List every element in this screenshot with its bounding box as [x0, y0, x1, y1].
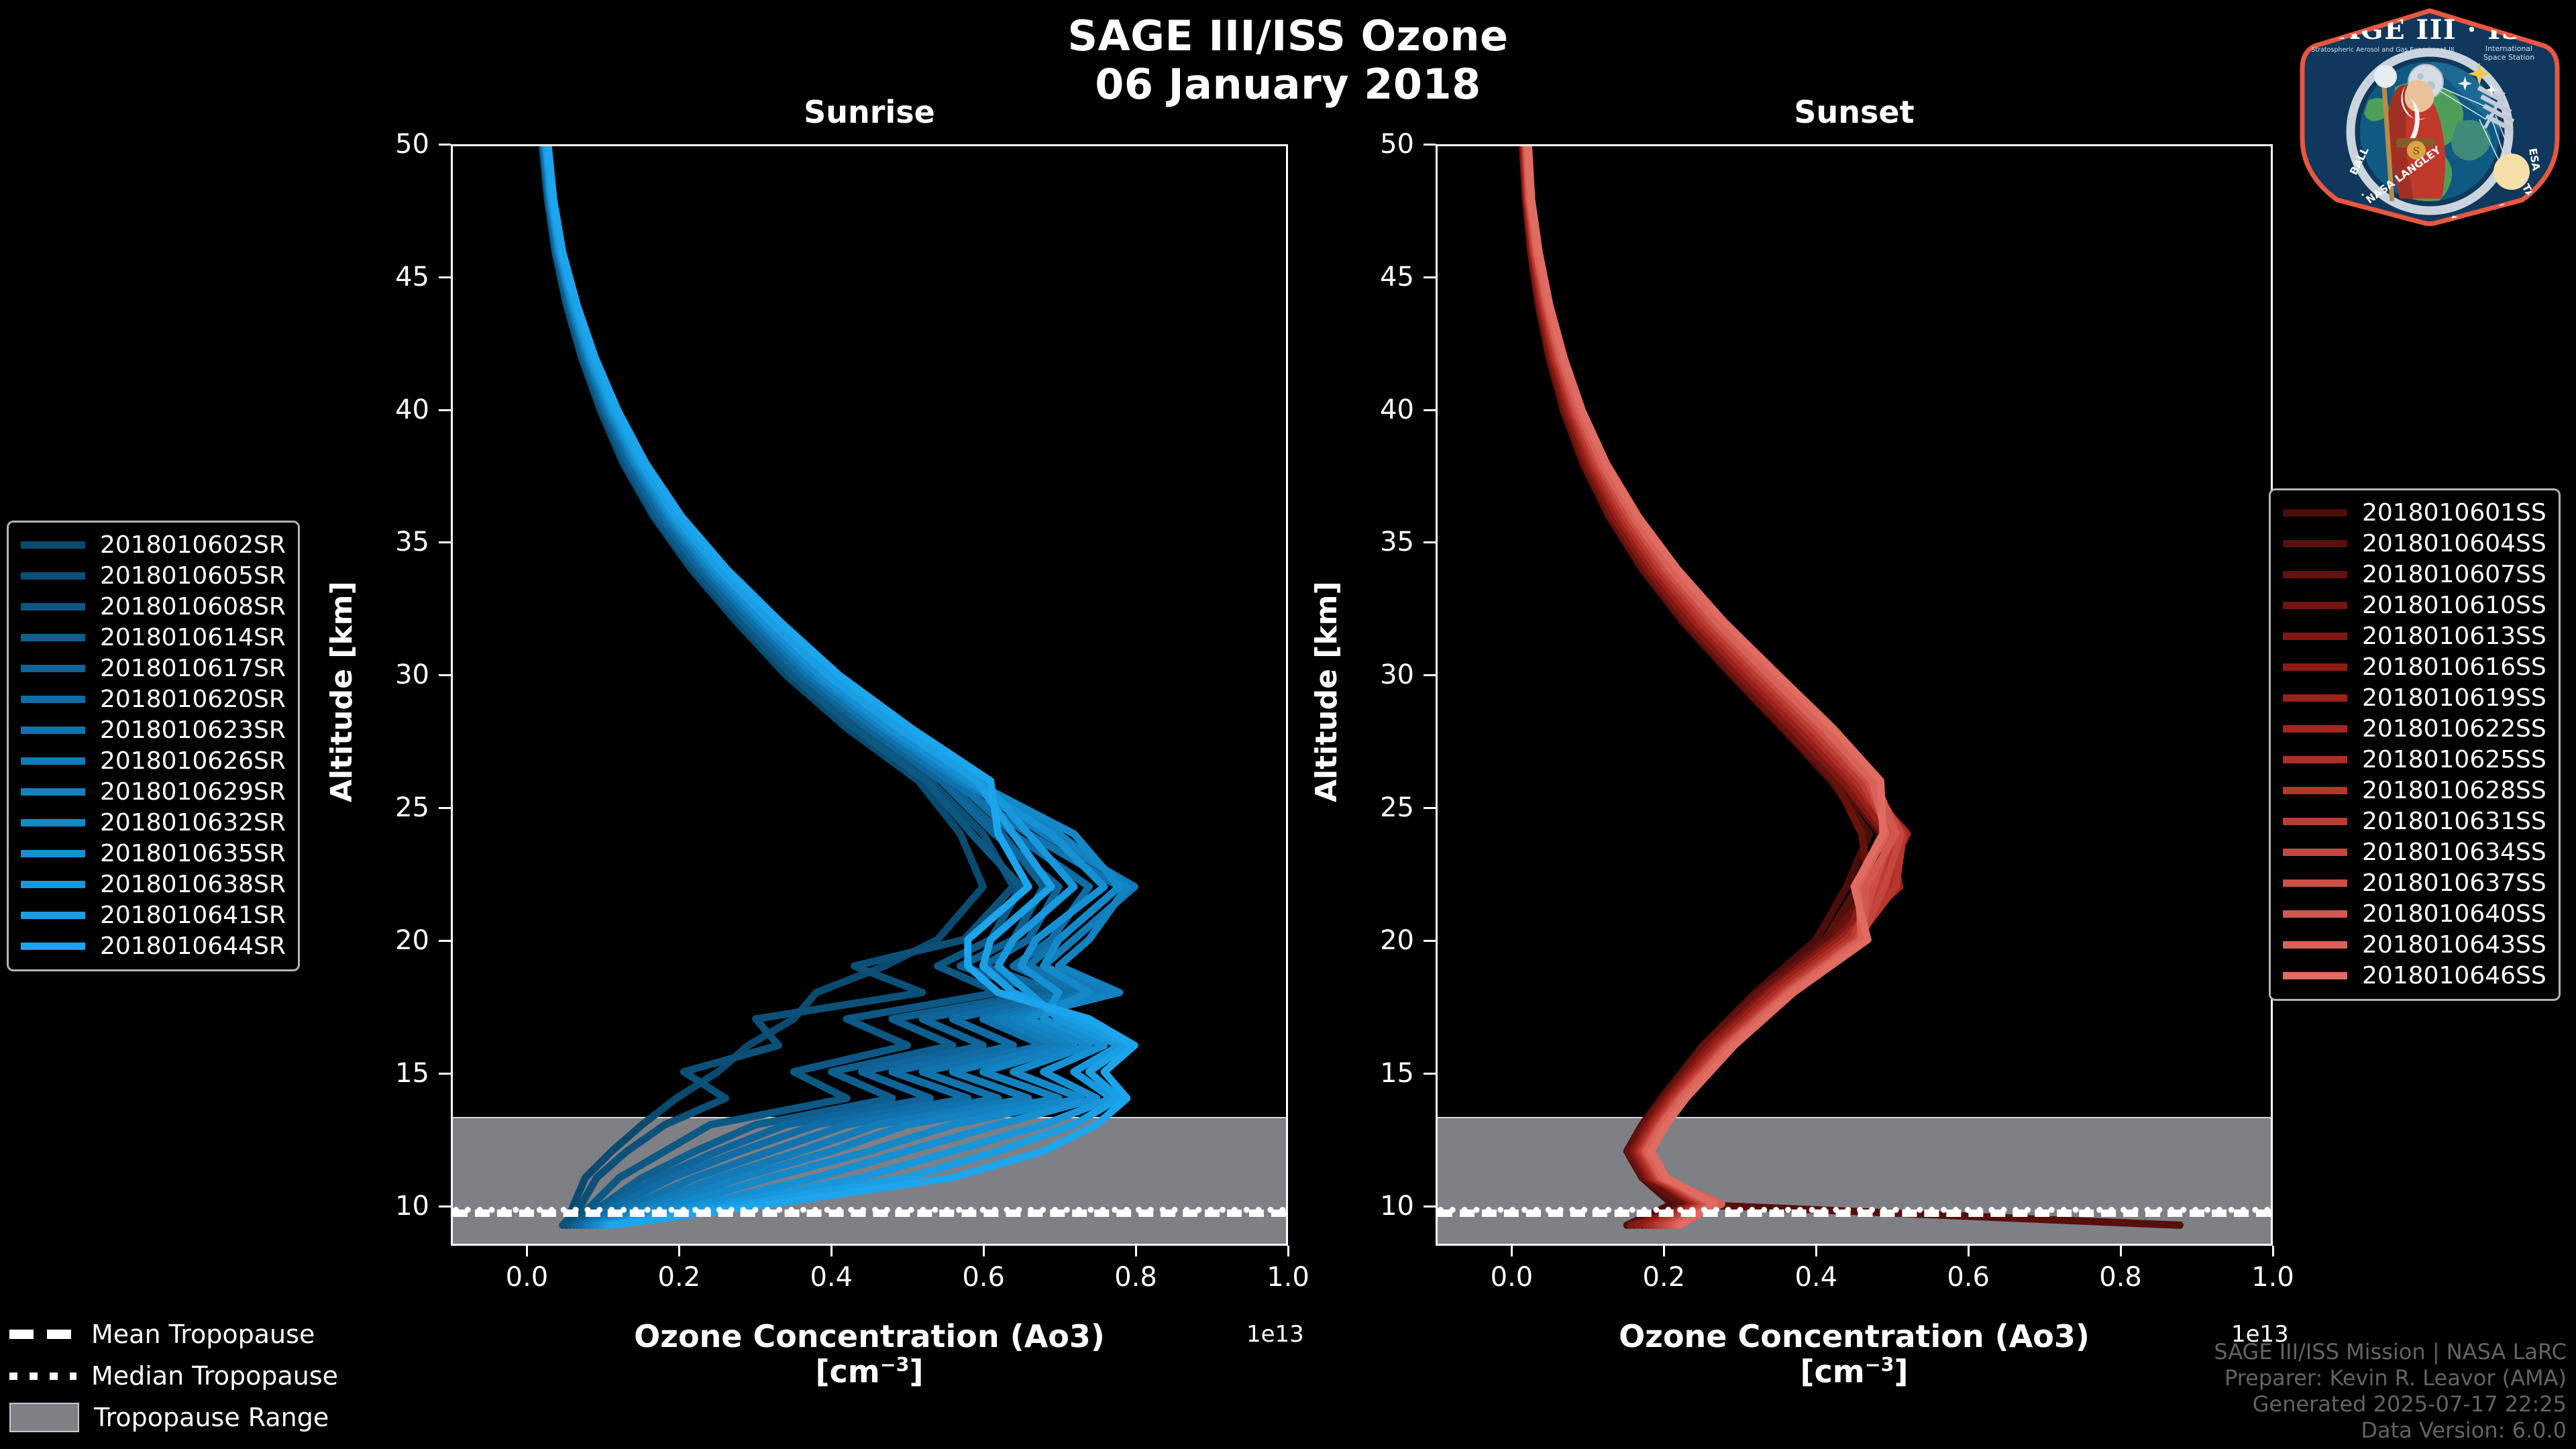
line-swatch-icon — [21, 943, 85, 950]
sunset-ytick — [1424, 807, 1436, 809]
sunset-legend-item: 2018010637SS — [2283, 867, 2546, 898]
sunrise-y-axis-label: Altitude [km] — [325, 581, 359, 802]
sunrise-legend-item: 2018010608SR — [21, 591, 286, 622]
sunset-legend-label: 2018010601SS — [2362, 499, 2546, 527]
sunrise-plot-area — [451, 144, 1288, 1246]
sunrise-legend-label: 2018010608SR — [100, 593, 286, 621]
filled-rect-icon — [9, 1403, 79, 1432]
sunset-legend-label: 2018010640SS — [2362, 900, 2546, 928]
legend-item-tropopause-range: Tropopause Range — [9, 1397, 338, 1438]
sunrise-xtick-label-0.6: 0.6 — [930, 1262, 1037, 1293]
sunrise-panel-title: Sunrise — [451, 94, 1288, 130]
sunset-legend-item: 2018010643SS — [2283, 929, 2546, 960]
sunset-legend-label: 2018010634SS — [2362, 839, 2546, 866]
sunrise-legend-item: 2018010614SR — [21, 622, 286, 653]
legend-label-tropopause-range: Tropopause Range — [94, 1403, 329, 1432]
sunrise-ytick — [439, 276, 451, 278]
sunrise-legend-label: 2018010641SR — [100, 902, 286, 929]
legend-item-mean-tropopause: Mean Tropopause — [9, 1313, 338, 1355]
line-swatch-icon — [21, 912, 85, 919]
sunset-xtick — [1968, 1246, 1970, 1256]
sunrise-xtick-label-0.4: 0.4 — [777, 1262, 885, 1293]
sunset-legend-item: 2018010631SS — [2283, 806, 2546, 837]
sunrise-legend-label: 2018010620SR — [100, 686, 286, 713]
sunrise-xtick-label-1.0: 1.0 — [1234, 1262, 1342, 1293]
sunrise-legend-item: 2018010644SR — [21, 930, 286, 961]
sunrise-ytick — [439, 144, 451, 146]
line-swatch-icon — [21, 696, 85, 703]
sunset-legend-item: 2018010604SS — [2283, 528, 2546, 559]
sunset-legend-label: 2018010622SS — [2362, 715, 2546, 743]
sunrise-ytick — [439, 674, 451, 676]
sunrise-legend: 2018010602SR2018010605SR2018010608SR2018… — [7, 521, 300, 971]
line-swatch-icon — [21, 819, 85, 826]
line-swatch-icon — [21, 572, 85, 580]
sage-iii-iss-mission-patch-logo: SAGE III · ISS Stratospheric Aerosol and… — [2294, 7, 2565, 228]
sunset-xtick — [2120, 1246, 2122, 1256]
legend-label-mean-tropopause: Mean Tropopause — [91, 1320, 315, 1349]
sunset-legend-item: 2018010625SS — [2283, 744, 2546, 775]
line-swatch-icon — [21, 727, 85, 734]
sunset-x-axis-label: Ozone Concentration (Ao3)[cm−3] — [1395, 1320, 2313, 1389]
sunrise-legend-label: 2018010629SR — [100, 778, 286, 806]
sunrise-ytick-label-35: 35 — [349, 527, 429, 557]
sunrise-xtick — [526, 1246, 528, 1256]
sunset-xtick — [1511, 1246, 1513, 1256]
sunset-xtick — [1815, 1246, 1817, 1256]
sunrise-ytick-label-50: 50 — [349, 129, 429, 160]
sunrise-legend-item: 2018010629SR — [21, 776, 286, 807]
line-swatch-icon — [2283, 725, 2347, 733]
sunset-ytick — [1424, 940, 1436, 942]
line-swatch-icon — [2283, 818, 2347, 825]
sunrise-legend-label: 2018010632SR — [100, 809, 286, 837]
legend-label-median-tropopause: Median Tropopause — [91, 1361, 338, 1391]
sunset-legend-label: 2018010604SS — [2362, 530, 2546, 557]
sunset-ytick — [1424, 1205, 1436, 1207]
line-swatch-icon — [21, 634, 85, 641]
sunrise-legend-item: 2018010605SR — [21, 560, 286, 591]
svg-text:International: International — [2485, 44, 2532, 53]
line-swatch-icon — [21, 850, 85, 857]
sunset-legend-label: 2018010610SS — [2362, 592, 2546, 619]
sunset-ytick-label-10: 10 — [1334, 1191, 1414, 1222]
sunrise-xtick-label-0.2: 0.2 — [625, 1262, 733, 1293]
svg-text:CENTER: CENTER — [2495, 201, 2538, 228]
tropopause-legend: Mean Tropopause Median Tropopause Tropop… — [9, 1313, 338, 1438]
sunrise-legend-item: 2018010623SR — [21, 714, 286, 745]
svg-text:SAGE III · ISS: SAGE III · ISS — [2318, 14, 2541, 46]
sunset-legend-item: 2018010601SS — [2283, 497, 2546, 528]
sunrise-ytick — [439, 409, 451, 411]
sunrise-ytick — [439, 807, 451, 809]
sunrise-x-axis-label-line2: [cm−3] — [411, 1354, 1328, 1389]
sunrise-ytick-label-40: 40 — [349, 394, 429, 425]
sunset-legend-item: 2018010616SS — [2283, 651, 2546, 682]
sunrise-legend-item: 2018010632SR — [21, 807, 286, 838]
sunset-profile-lines — [1438, 146, 2271, 1244]
line-swatch-icon — [2283, 756, 2347, 763]
line-swatch-icon — [2283, 787, 2347, 794]
sunrise-xtick-label-0.0: 0.0 — [473, 1262, 580, 1293]
sunset-xtick — [2272, 1246, 2274, 1256]
sunset-legend-item: 2018010610SS — [2283, 590, 2546, 621]
sunset-ytick-label-40: 40 — [1334, 394, 1414, 425]
credits-line-3: Generated 2025-07-17 22:25 — [2214, 1391, 2567, 1417]
sunset-xtick-label-1.0: 1.0 — [2219, 1262, 2326, 1293]
sunset-legend-label: 2018010631SS — [2362, 808, 2546, 835]
sunrise-x-axis-offset-text: 1e13 — [1246, 1321, 1304, 1348]
sunset-ytick-label-15: 15 — [1334, 1058, 1414, 1089]
sunrise-legend-item: 2018010620SR — [21, 684, 286, 714]
line-swatch-icon — [21, 881, 85, 888]
sunrise-ytick — [439, 1073, 451, 1075]
sunrise-ytick-label-25: 25 — [349, 792, 429, 823]
line-swatch-icon — [2283, 941, 2347, 949]
dotted-line-icon — [9, 1373, 76, 1380]
line-swatch-icon — [2283, 509, 2347, 517]
credits-line-1: SAGE III/ISS Mission | NASA LaRC — [2214, 1339, 2567, 1365]
sunrise-x-axis-label-line1: Ozone Concentration (Ao3) — [411, 1320, 1328, 1354]
sunset-median-tropopause-line — [1438, 1207, 2271, 1213]
sunrise-legend-label: 2018010614SR — [100, 624, 286, 651]
sunset-legend-item: 2018010607SS — [2283, 559, 2546, 590]
sunset-ytick-label-35: 35 — [1334, 527, 1414, 557]
sunset-legend-item: 2018010634SS — [2283, 837, 2546, 867]
line-swatch-icon — [2283, 910, 2347, 918]
sunrise-legend-item: 2018010626SR — [21, 745, 286, 776]
line-swatch-icon — [2283, 663, 2347, 671]
dashed-line-icon — [9, 1330, 76, 1339]
sunrise-legend-label: 2018010635SR — [100, 840, 286, 867]
sunset-legend-item: 2018010646SS — [2283, 960, 2546, 991]
sunset-legend-label: 2018010607SS — [2362, 561, 2546, 588]
sunset-ytick — [1424, 674, 1436, 676]
sunrise-ytick-label-20: 20 — [349, 925, 429, 956]
line-swatch-icon — [21, 603, 85, 610]
svg-text:RESEARCH: RESEARCH — [2449, 213, 2512, 228]
sunrise-legend-label: 2018010626SR — [100, 747, 286, 775]
credits-line-4: Data Version: 6.0.0 — [2214, 1417, 2567, 1444]
sunset-x-axis-label-line1: Ozone Concentration (Ao3) — [1395, 1320, 2313, 1354]
sunrise-legend-item: 2018010617SR — [21, 653, 286, 684]
sunset-legend-label: 2018010643SS — [2362, 931, 2546, 959]
sunset-legend-label: 2018010613SS — [2362, 623, 2546, 650]
line-swatch-icon — [21, 665, 85, 672]
sunrise-legend-label: 2018010617SR — [100, 655, 286, 682]
sunset-panel-title: Sunset — [1436, 94, 2273, 130]
sunset-xtick-label-0.6: 0.6 — [1915, 1262, 2022, 1293]
sunrise-ytick — [439, 940, 451, 942]
sunrise-legend-label: 2018010605SR — [100, 562, 286, 590]
sunrise-profile-lines — [453, 146, 1286, 1244]
sunrise-legend-item: 2018010602SR — [21, 529, 286, 560]
sunset-ytick — [1424, 409, 1436, 411]
sunrise-x-axis-label: Ozone Concentration (Ao3)[cm−3] — [411, 1320, 1328, 1389]
line-swatch-icon — [2283, 633, 2347, 640]
credits-block: SAGE III/ISS Mission | NASA LaRC Prepare… — [2214, 1339, 2567, 1444]
sunrise-xtick — [830, 1246, 833, 1256]
line-swatch-icon — [21, 788, 85, 796]
sunset-xtick — [1663, 1246, 1665, 1256]
sunset-legend-label: 2018010646SS — [2362, 962, 2546, 989]
line-swatch-icon — [2283, 571, 2347, 578]
sunrise-plot-clip — [453, 146, 1286, 1244]
sunset-legend-label: 2018010625SS — [2362, 746, 2546, 773]
credits-line-2: Preparer: Kevin R. Leavor (AMA) — [2214, 1365, 2567, 1391]
sunset-ytick-label-20: 20 — [1334, 925, 1414, 956]
sunset-legend-item: 2018010640SS — [2283, 898, 2546, 929]
line-swatch-icon — [2283, 540, 2347, 547]
sunrise-legend-label: 2018010644SR — [100, 932, 286, 960]
sunset-y-axis-label: Altitude [km] — [1309, 581, 1344, 802]
sunset-plot-area — [1436, 144, 2273, 1246]
line-swatch-icon — [2283, 849, 2347, 856]
sunset-legend-item: 2018010622SS — [2283, 713, 2546, 744]
sunrise-xtick — [1287, 1246, 1289, 1256]
sunset-ytick-label-50: 50 — [1334, 129, 1414, 160]
sunrise-xtick — [983, 1246, 985, 1256]
sunrise-ytick-label-15: 15 — [349, 1058, 429, 1089]
profile-line — [1523, 146, 2180, 1225]
legend-item-median-tropopause: Median Tropopause — [9, 1355, 338, 1397]
line-swatch-icon — [2283, 602, 2347, 609]
sunrise-ytick-label-45: 45 — [349, 262, 429, 292]
sunrise-ytick — [439, 1205, 451, 1207]
sunset-legend: 2018010601SS2018010604SS2018010607SS2018… — [2269, 488, 2561, 1001]
svg-text:Space Station: Space Station — [2483, 53, 2534, 62]
line-swatch-icon — [2283, 972, 2347, 979]
line-swatch-icon — [2283, 694, 2347, 702]
sunset-legend-item: 2018010613SS — [2283, 621, 2546, 651]
sunrise-legend-label: 2018010623SR — [100, 716, 286, 744]
sunrise-legend-item: 2018010638SR — [21, 869, 286, 900]
line-swatch-icon — [21, 541, 85, 549]
sunrise-legend-item: 2018010641SR — [21, 900, 286, 930]
sunset-plot-clip — [1438, 146, 2271, 1244]
sunrise-ytick-label-10: 10 — [349, 1191, 429, 1222]
sunrise-xtick — [678, 1246, 680, 1256]
sunset-legend-label: 2018010628SS — [2362, 777, 2546, 804]
sunrise-xtick — [1135, 1246, 1137, 1256]
sunset-x-axis-label-line2: [cm−3] — [1395, 1354, 2313, 1389]
sunset-legend-label: 2018010637SS — [2362, 869, 2546, 897]
title-line-1: SAGE III/ISS Ozone — [0, 12, 2576, 60]
sunset-ytick-label-25: 25 — [1334, 792, 1414, 823]
line-swatch-icon — [2283, 879, 2347, 887]
sunset-ytick — [1424, 144, 1436, 146]
sunset-ytick — [1424, 541, 1436, 543]
svg-text:S: S — [2413, 145, 2420, 157]
sunset-xtick-label-0.8: 0.8 — [2067, 1262, 2174, 1293]
line-swatch-icon — [21, 757, 85, 765]
sunset-ytick-label-45: 45 — [1334, 262, 1414, 292]
sunset-legend-item: 2018010628SS — [2283, 775, 2546, 806]
sunrise-median-tropopause-line — [453, 1207, 1286, 1213]
sunset-ytick — [1424, 276, 1436, 278]
sunset-xtick-label-0.2: 0.2 — [1610, 1262, 1717, 1293]
sunrise-legend-item: 2018010635SR — [21, 838, 286, 869]
sunrise-xtick-label-0.8: 0.8 — [1082, 1262, 1189, 1293]
sunrise-legend-label: 2018010638SR — [100, 871, 286, 898]
sunrise-legend-label: 2018010602SR — [100, 531, 286, 559]
sunrise-ytick-label-30: 30 — [349, 659, 429, 690]
sunset-xtick-label-0.0: 0.0 — [1458, 1262, 1565, 1293]
sunset-legend-item: 2018010619SS — [2283, 682, 2546, 713]
sunset-xtick-label-0.4: 0.4 — [1762, 1262, 1870, 1293]
sunset-ytick — [1424, 1073, 1436, 1075]
sunset-legend-label: 2018010619SS — [2362, 684, 2546, 712]
sunset-ytick-label-30: 30 — [1334, 659, 1414, 690]
sunset-legend-label: 2018010616SS — [2362, 653, 2546, 681]
sunrise-ytick — [439, 541, 451, 543]
